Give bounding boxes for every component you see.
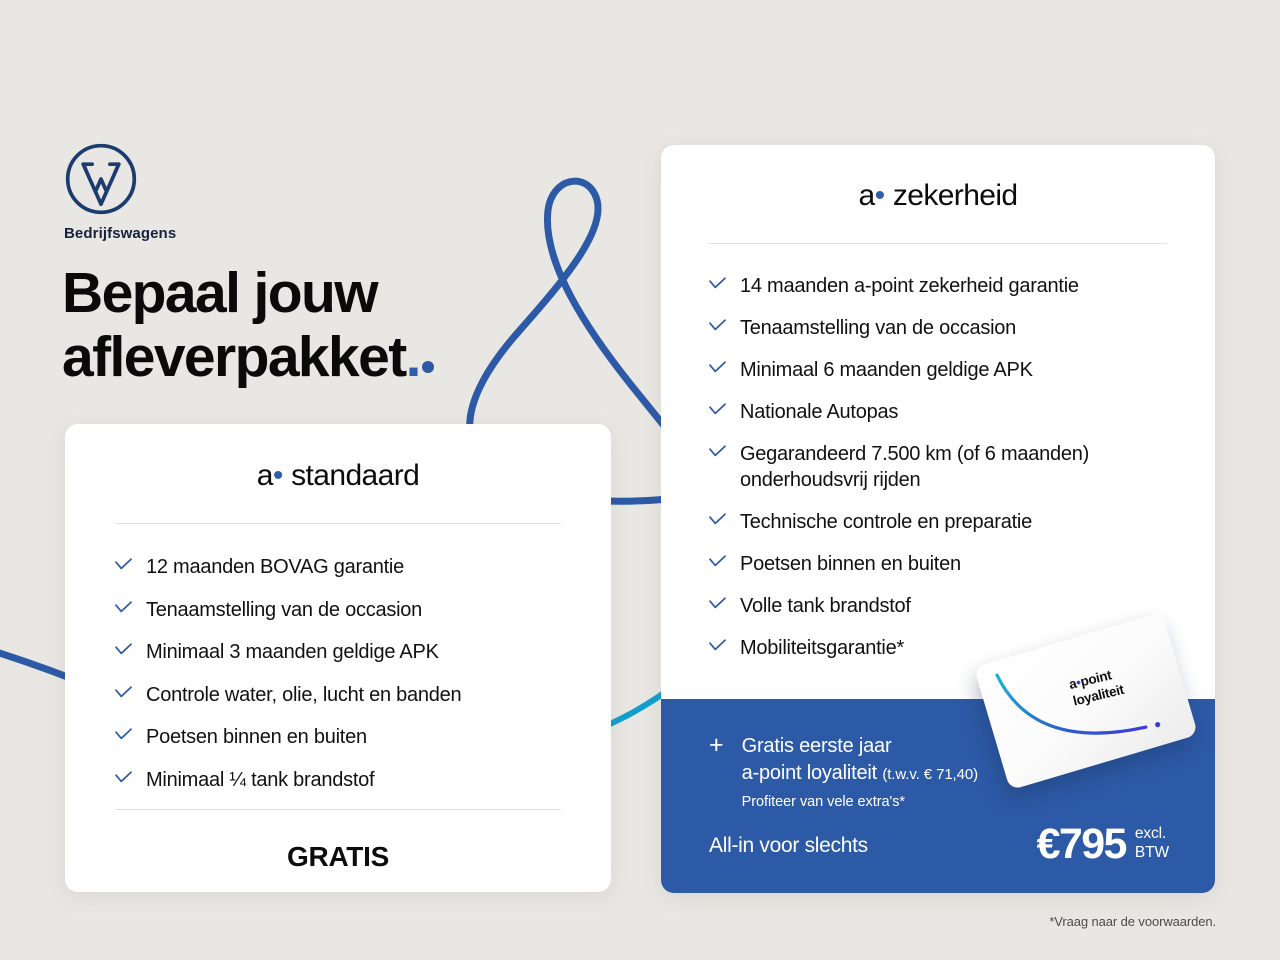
list-item: Nationale Autopas: [709, 399, 1167, 425]
list-item-label: Mobiliteitsgarantie*: [740, 635, 904, 661]
list-item-label: Gegarandeerd 7.500 km (of 6 maanden) ond…: [740, 441, 1167, 493]
list-item: Technische controle en preparatie: [709, 509, 1167, 535]
check-icon: [709, 555, 726, 568]
check-icon: [709, 513, 726, 526]
price-suffix-line-2: BTW: [1135, 843, 1169, 862]
divider-bottom: [65, 809, 611, 810]
list-item: Volle tank brandstof: [709, 593, 1167, 619]
list-item-label: Technische controle en preparatie: [740, 509, 1032, 535]
check-icon: [115, 601, 132, 614]
brand-lockup: Bedrijfswagens: [64, 142, 176, 242]
package-card-standaard[interactable]: a• standaard 12 maanden BOVAG garantie T…: [65, 424, 611, 892]
check-icon: [709, 277, 726, 290]
check-icon: [709, 445, 726, 458]
check-icon: [115, 686, 132, 699]
check-icon: [709, 597, 726, 610]
a-point-logo-letter: a: [858, 179, 874, 212]
a-point-logo-letter: a: [257, 459, 273, 492]
feature-list-standaard: 12 maanden BOVAG garantie Tenaamstelling…: [65, 554, 611, 793]
headline-line-2-wrap: afleverpakket.: [62, 326, 420, 390]
a-point-logo-dot: •: [273, 459, 284, 492]
list-item: Poetsen binnen en buiten: [709, 551, 1167, 577]
footnote-disclaimer: *Vraag naar de voorwaarden.: [1049, 914, 1216, 929]
check-icon: [709, 403, 726, 416]
list-item: Controle water, olie, lucht en banden: [115, 682, 561, 708]
check-icon: [709, 639, 726, 652]
card-title-word: zekerheid: [893, 179, 1018, 212]
list-item-label: Minimaal ¼ tank brandstof: [146, 767, 374, 793]
check-icon: [115, 643, 132, 656]
list-item-label: Minimaal 6 maanden geldige APK: [740, 357, 1033, 383]
bonus-text: Gratis eerste jaar a-point loyaliteit (t…: [742, 733, 978, 813]
list-item: Gegarandeerd 7.500 km (of 6 maanden) ond…: [709, 441, 1167, 493]
bonus-line-1: Gratis eerste jaar: [742, 733, 978, 760]
price-suffix: excl. BTW: [1135, 824, 1169, 862]
divider-top: [661, 243, 1215, 244]
price-group: €795 excl. BTW: [1037, 823, 1169, 865]
price-standaard: GRATIS: [65, 841, 611, 873]
check-icon: [115, 558, 132, 571]
list-item-label: Minimaal 3 maanden geldige APK: [146, 639, 439, 665]
check-icon: [115, 728, 132, 741]
bonus-line-2-wrap: a-point loyaliteit (t.w.v. € 71,40): [742, 760, 978, 788]
plus-icon: +: [709, 733, 724, 757]
headline-line-1: Bepaal jouw: [62, 262, 420, 326]
volkswagen-logo: [64, 142, 138, 216]
list-item-label: Tenaamstelling van de occasion: [740, 315, 1016, 341]
bonus-line-3: Profiteer van vele extra's*: [742, 791, 978, 813]
list-item-label: Volle tank brandstof: [740, 593, 911, 619]
package-card-zekerheid[interactable]: a• zekerheid 14 maanden a-point zekerhei…: [661, 145, 1215, 893]
card-title-standaard: a• standaard: [65, 459, 611, 493]
list-item: Minimaal ¼ tank brandstof: [115, 767, 561, 793]
list-item: Tenaamstelling van de occasion: [115, 597, 561, 623]
card-title-word: standaard: [291, 459, 419, 492]
list-item: 14 maanden a-point zekerheid garantie: [709, 273, 1167, 299]
list-item: Tenaamstelling van de occasion: [709, 315, 1167, 341]
list-item: Poetsen binnen en buiten: [115, 724, 561, 750]
headline-accent-dot: .: [406, 325, 420, 389]
divider-top: [65, 523, 611, 524]
price-row: All-in voor slechts €795 excl. BTW: [709, 823, 1169, 865]
page-title: Bepaal jouw afleverpakket.: [62, 262, 420, 390]
list-item: 12 maanden BOVAG garantie: [115, 554, 561, 580]
poster-canvas: Bedrijfswagens Bepaal jouw afleverpakket…: [0, 0, 1280, 960]
list-item-label: Nationale Autopas: [740, 399, 898, 425]
list-item-label: Tenaamstelling van de occasion: [146, 597, 422, 623]
price-amount: €795: [1037, 823, 1126, 865]
check-icon: [709, 319, 726, 332]
list-item-label: Poetsen binnen en buiten: [146, 724, 367, 750]
bonus-block: + Gratis eerste jaar a-point loyaliteit …: [709, 733, 978, 813]
list-item: Minimaal 6 maanden geldige APK: [709, 357, 1167, 383]
card-title-zekerheid: a• zekerheid: [661, 179, 1215, 213]
price-label: All-in voor slechts: [709, 834, 868, 865]
list-item-label: Poetsen binnen en buiten: [740, 551, 961, 577]
check-icon: [115, 771, 132, 784]
list-item-label: Controle water, olie, lucht en banden: [146, 682, 461, 708]
headline-line-2: afleverpakket: [62, 325, 406, 389]
brand-subtitle: Bedrijfswagens: [64, 225, 176, 242]
bonus-value-note: (t.w.v. € 71,40): [882, 766, 978, 783]
price-suffix-line-1: excl.: [1135, 824, 1169, 843]
bonus-line-2: a-point loyaliteit: [742, 762, 877, 784]
check-icon: [709, 361, 726, 374]
a-point-logo-dot: •: [875, 179, 886, 212]
list-item-label: 14 maanden a-point zekerheid garantie: [740, 273, 1079, 299]
list-item-label: 12 maanden BOVAG garantie: [146, 554, 404, 580]
feature-list-zekerheid: 14 maanden a-point zekerheid garantie Te…: [661, 273, 1215, 661]
list-item: Minimaal 3 maanden geldige APK: [115, 639, 561, 665]
